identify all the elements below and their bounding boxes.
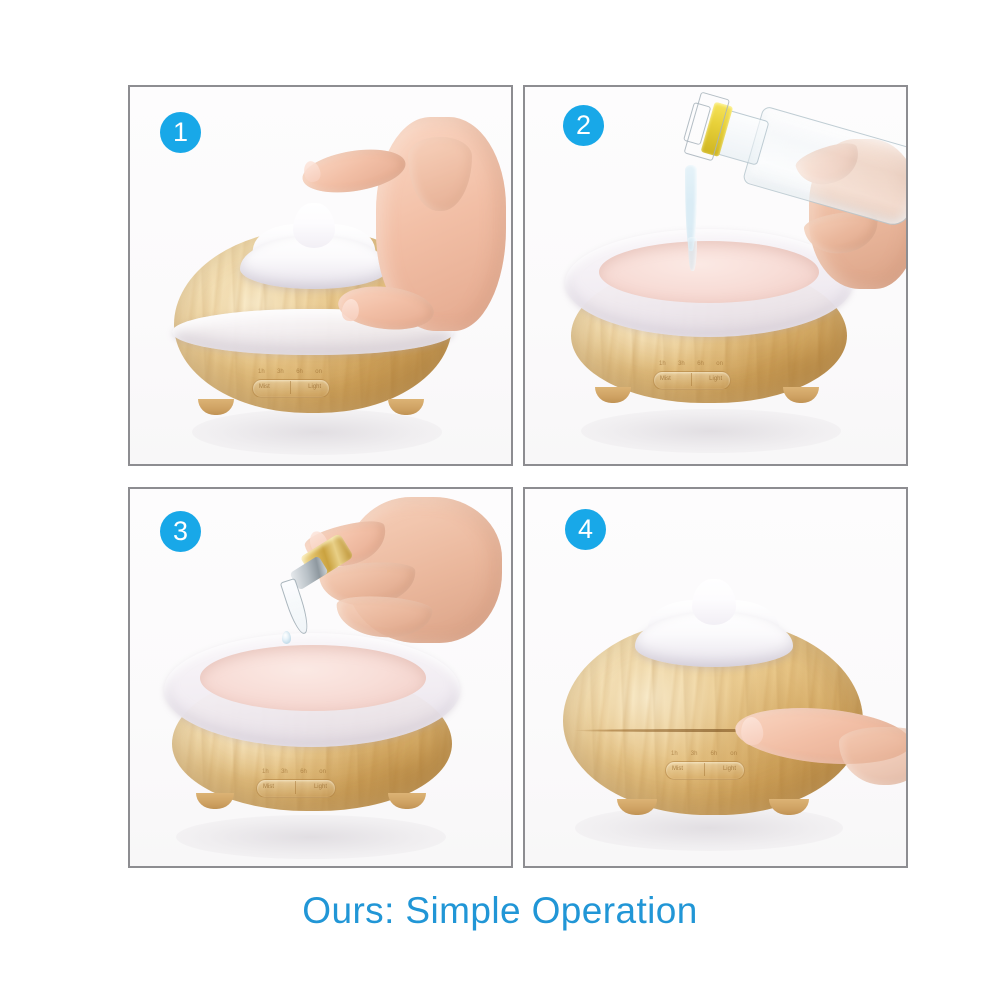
step-panel-4[interactable]: 1h 3h 6h on Mist Light <box>523 487 908 868</box>
step-badge-2: 2 <box>563 105 604 146</box>
dropper-pipette <box>280 578 313 636</box>
steps-grid: 1h 3h 6h on Mist Light <box>128 85 908 868</box>
control-divider <box>295 781 296 795</box>
mist-button-label: Mist <box>263 784 274 790</box>
step-badge-3: 3 <box>160 511 201 552</box>
control-panel[interactable]: Mist Light <box>256 779 334 796</box>
device-foot <box>198 399 234 415</box>
device-foot <box>595 387 631 403</box>
panel-1-photo: 1h 3h 6h on Mist Light <box>130 87 511 464</box>
light-button-label: Light <box>314 784 327 790</box>
water-surface <box>599 241 819 303</box>
caption-text: Ours: Simple Operation <box>0 890 1000 932</box>
panel-2-photo: 1h 3h 6h on Mist Light <box>525 87 906 464</box>
finger-shade <box>839 727 908 785</box>
control-panel[interactable]: Mist Light <box>665 761 743 778</box>
step-badge-1: 1 <box>160 112 201 153</box>
mist-button-label: Mist <box>672 766 683 772</box>
lid-neck <box>692 579 736 625</box>
mist-button-label: Mist <box>660 376 671 382</box>
control-tick-marks: 1h 3h 6h on <box>262 769 326 775</box>
finger-pressing-button <box>735 705 908 815</box>
control-divider <box>691 373 692 387</box>
step-panel-2[interactable]: 1h 3h 6h on Mist Light <box>523 85 908 466</box>
control-tick-marks: 1h 3h 6h on <box>258 369 322 375</box>
panel-3-photo: 1h 3h 6h on Mist Light <box>130 489 511 866</box>
control-divider <box>290 381 291 395</box>
light-button-label: Light <box>308 384 321 390</box>
control-panel[interactable]: Mist Light <box>653 371 729 388</box>
control-tick-marks: 1h 3h 6h on <box>659 361 723 367</box>
device-foot <box>783 387 819 403</box>
hand-lifting-cover <box>280 109 510 369</box>
light-button-label: Light <box>709 376 722 382</box>
control-panel[interactable]: Mist Light <box>252 379 328 396</box>
panel-4-photo: 1h 3h 6h on Mist Light <box>525 489 906 866</box>
device-foot <box>617 799 657 815</box>
cone-lid <box>635 579 793 667</box>
device-foot <box>196 793 234 809</box>
control-divider <box>704 763 705 777</box>
control-tick-marks: 1h 3h 6h on <box>671 751 737 757</box>
step-badge-4: 4 <box>565 509 606 550</box>
essential-oil-dropper <box>280 539 390 669</box>
step-panel-3[interactable]: 1h 3h 6h on Mist Light <box>128 487 513 868</box>
device-foot <box>388 793 426 809</box>
mist-button-label: Mist <box>259 384 270 390</box>
step-panel-1[interactable]: 1h 3h 6h on Mist Light <box>128 85 513 466</box>
device-foot <box>388 399 424 415</box>
infographic-root: 1h 3h 6h on Mist Light <box>0 0 1000 1000</box>
